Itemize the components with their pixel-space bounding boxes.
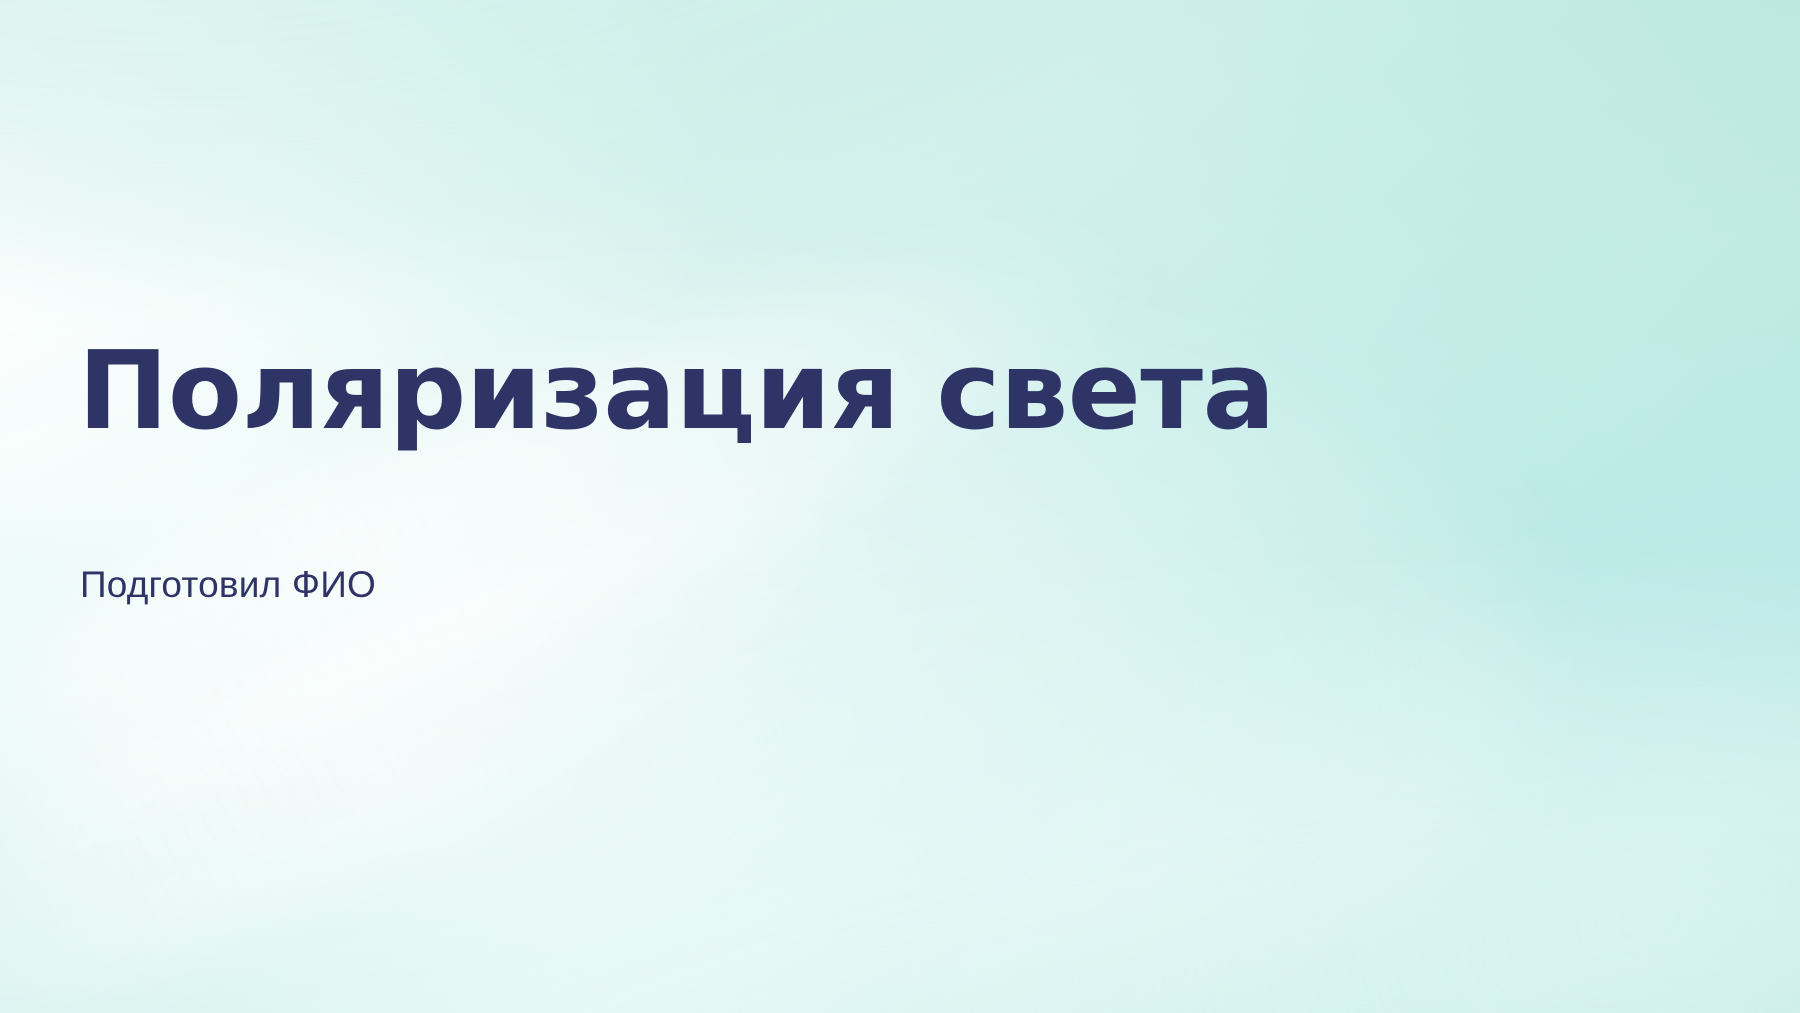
presentation-title-slide: Поляризация света Подготовил ФИО <box>0 0 1800 1013</box>
slide-title: Поляризация света <box>78 338 1275 446</box>
slide-subtitle-author: Подготовил ФИО <box>80 563 376 607</box>
slide-text-block: Поляризация света Подготовил ФИО <box>78 0 1638 1013</box>
